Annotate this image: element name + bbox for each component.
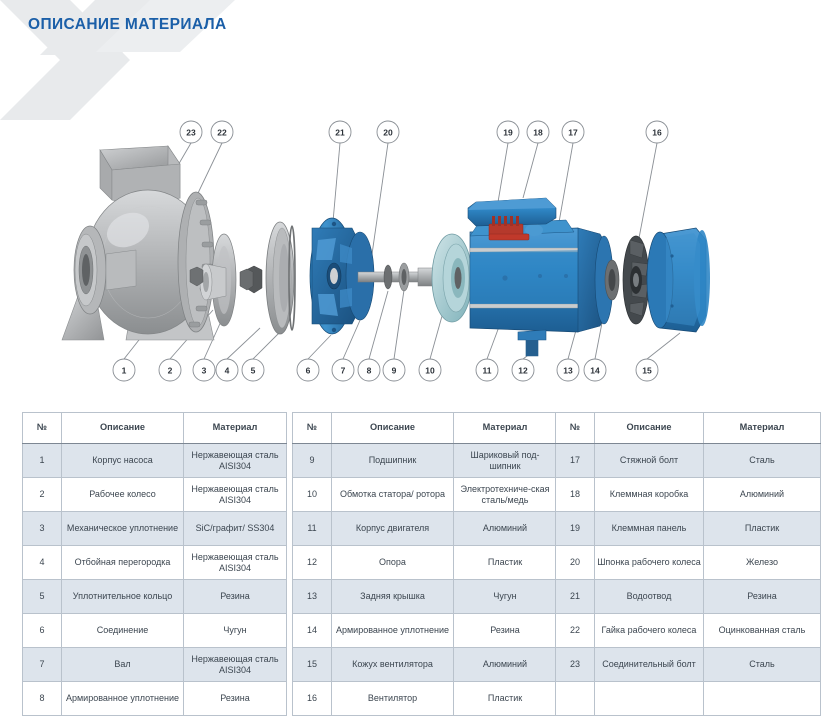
cell-number: 22 [556, 614, 595, 648]
cell-material: Оцинкованная сталь [704, 614, 821, 648]
table-row: 1Корпус насосаНержавеющая сталь AISI304 [23, 444, 287, 478]
callout-17: 17 [562, 121, 584, 143]
svg-text:11: 11 [483, 366, 492, 376]
part-pump-housing [62, 146, 214, 340]
table-row [556, 682, 821, 716]
cell-material: Электротехниче-ская сталь/медь [454, 478, 557, 512]
cell-description: Корпус двигателя [332, 512, 454, 546]
table-header-row: № Описание Материал [293, 413, 557, 444]
cell-number: 9 [293, 444, 332, 478]
cell-description [595, 682, 704, 716]
th-material: Материал [184, 413, 287, 444]
cell-number: 4 [23, 546, 62, 580]
svg-text:14: 14 [590, 366, 600, 376]
callout-23: 23 [180, 121, 202, 143]
part-mechanical-seal [240, 266, 262, 293]
cell-number: 3 [23, 512, 62, 546]
cell-material: Алюминий [704, 478, 821, 512]
part-motor-front-flange [432, 234, 472, 322]
cell-description: Подшипник [332, 444, 454, 478]
cell-description: Гайка рабочего колеса [595, 614, 704, 648]
callout-15: 15 [636, 359, 658, 381]
cell-material: Алюминий [454, 512, 557, 546]
cell-description: Стяжной болт [595, 444, 704, 478]
cell-number: 21 [556, 580, 595, 614]
table-row: 5Уплотнительное кольцоРезина [23, 580, 287, 614]
cell-number: 14 [293, 614, 332, 648]
cell-material: Резина [184, 682, 287, 716]
th-material: Материал [704, 413, 821, 444]
callout-3: 3 [193, 359, 215, 381]
callout-bubbles-top: 23 22 21 20 19 18 17 16 [180, 121, 668, 143]
cell-description: Вентилятор [332, 682, 454, 716]
table-row: 21ВодоотводРезина [556, 580, 821, 614]
cell-description: Корпус насоса [62, 444, 184, 478]
cell-material: Железо [704, 546, 821, 580]
cell-description: Опора [332, 546, 454, 580]
part-rear-cover [605, 260, 619, 300]
callout-14: 14 [584, 359, 606, 381]
cell-number: 10 [293, 478, 332, 512]
callout-4: 4 [216, 359, 238, 381]
callout-19: 19 [497, 121, 519, 143]
cell-number: 5 [23, 580, 62, 614]
cell-number: 1 [23, 444, 62, 478]
cell-material: Чугун [454, 580, 557, 614]
svg-text:19: 19 [503, 128, 513, 138]
svg-text:4: 4 [225, 366, 230, 376]
cell-material: Нержавеющая сталь AISI304 [184, 478, 287, 512]
svg-text:2: 2 [168, 366, 173, 376]
cell-number: 13 [293, 580, 332, 614]
cell-material: Сталь [704, 648, 821, 682]
th-material: Материал [454, 413, 557, 444]
cell-material: Алюминий [454, 648, 557, 682]
cell-description: Водоотвод [595, 580, 704, 614]
material-table-1: № Описание Материал 1Корпус насосаНержав… [22, 412, 287, 716]
callout-9: 9 [383, 359, 405, 381]
exploded-diagram: 23 22 21 20 19 18 17 16 1 2 3 4 5 6 7 8 … [0, 48, 825, 400]
table-row: 2Рабочее колесоНержавеющая сталь AISI304 [23, 478, 287, 512]
cell-description: Армированное уплотнение [332, 614, 454, 648]
cell-description: Соединительный болт [595, 648, 704, 682]
svg-text:20: 20 [383, 128, 393, 138]
cell-description: Рабочее колесо [62, 478, 184, 512]
cell-description: Вал [62, 648, 184, 682]
table-row: 16ВентиляторПластик [293, 682, 557, 716]
th-description: Описание [595, 413, 704, 444]
cell-number: 12 [293, 546, 332, 580]
page-title: ОПИСАНИЕ МАТЕРИАЛА [28, 16, 227, 34]
cell-number [556, 682, 595, 716]
table-row: 19Клеммная панельПластик [556, 512, 821, 546]
table-row: 6СоединениеЧугун [23, 614, 287, 648]
svg-text:6: 6 [306, 366, 311, 376]
page-header: ОПИСАНИЕ МАТЕРИАЛА [0, 0, 825, 48]
cell-material: Резина [184, 580, 287, 614]
table-header-row: № Описание Материал [23, 413, 287, 444]
cell-number: 23 [556, 648, 595, 682]
cell-material: Шариковый под-шипник [454, 444, 557, 478]
cell-material: Резина [704, 580, 821, 614]
table-row: 9ПодшипникШариковый под-шипник [293, 444, 557, 478]
svg-text:15: 15 [642, 366, 652, 376]
part-cooling-fan [623, 236, 649, 324]
svg-text:21: 21 [335, 128, 345, 138]
svg-text:23: 23 [186, 128, 196, 138]
cell-material: Пластик [704, 512, 821, 546]
cell-material: Нержавеющая сталь AISI304 [184, 648, 287, 682]
svg-text:18: 18 [533, 128, 543, 138]
th-description: Описание [62, 413, 184, 444]
cell-material: Чугун [184, 614, 287, 648]
table-body-2: 9ПодшипникШариковый под-шипник10Обмотка … [293, 444, 557, 716]
table-body-3: 17Стяжной болтСталь18Клеммная коробкаАлю… [556, 444, 821, 716]
part-impeller-nut [190, 267, 203, 286]
table-row: 7ВалНержавеющая сталь AISI304 [23, 648, 287, 682]
table-row: 13Задняя крышкаЧугун [293, 580, 557, 614]
cell-material: Сталь [704, 444, 821, 478]
table-row: 22Гайка рабочего колесаОцинкованная стал… [556, 614, 821, 648]
callout-7: 7 [332, 359, 354, 381]
callout-2: 2 [159, 359, 181, 381]
table-row: 3Механическое уплотнениеSiC/графит/ SS30… [23, 512, 287, 546]
callout-11: 11 [476, 359, 498, 381]
svg-text:5: 5 [251, 366, 256, 376]
cell-number: 2 [23, 478, 62, 512]
callout-8: 8 [358, 359, 380, 381]
material-tables: № Описание Материал 1Корпус насосаНержав… [0, 412, 825, 702]
callout-bubbles-bottom: 1 2 3 4 5 6 7 8 9 10 11 12 13 14 15 [113, 359, 658, 381]
table-row: 20Шпонка рабочего колесаЖелезо [556, 546, 821, 580]
svg-text:17: 17 [568, 128, 578, 138]
table-row: 14Армированное уплотнениеРезина [293, 614, 557, 648]
svg-text:16: 16 [652, 128, 662, 138]
cell-number: 18 [556, 478, 595, 512]
cell-number: 15 [293, 648, 332, 682]
cell-material: Пластик [454, 682, 557, 716]
part-fan-cover [647, 228, 710, 332]
cell-description: Клеммная коробка [595, 478, 704, 512]
part-baffle-plate [266, 222, 295, 334]
th-number: № [293, 413, 332, 444]
material-table-2: № Описание Материал 9ПодшипникШариковый … [292, 412, 557, 716]
callout-22: 22 [211, 121, 233, 143]
table-row: 10Обмотка статора/ ротораЭлектротехниче-… [293, 478, 557, 512]
svg-text:13: 13 [563, 366, 573, 376]
cell-number: 16 [293, 682, 332, 716]
svg-text:22: 22 [217, 128, 227, 138]
table-row: 4Отбойная перегородкаНержавеющая сталь A… [23, 546, 287, 580]
table-row: 15Кожух вентилятораАлюминий [293, 648, 557, 682]
cell-number: 6 [23, 614, 62, 648]
th-number: № [23, 413, 62, 444]
cell-material: Нержавеющая сталь AISI304 [184, 546, 287, 580]
callout-10: 10 [419, 359, 441, 381]
table-row: 11Корпус двигателяАлюминий [293, 512, 557, 546]
material-table-3: № Описание Материал 17Стяжной болтСталь1… [555, 412, 821, 716]
callout-1: 1 [113, 359, 135, 381]
cell-description: Армированное уплотнение [62, 682, 184, 716]
cell-number: 7 [23, 648, 62, 682]
svg-text:1: 1 [122, 366, 127, 376]
cell-number: 17 [556, 444, 595, 478]
cell-number: 11 [293, 512, 332, 546]
th-description: Описание [332, 413, 454, 444]
table-row: 8Армированное уплотнениеРезина [23, 682, 287, 716]
table-row: 12ОпораПластик [293, 546, 557, 580]
cell-description: Клеммная панель [595, 512, 704, 546]
callout-13: 13 [557, 359, 579, 381]
callout-5: 5 [242, 359, 264, 381]
svg-text:12: 12 [518, 366, 528, 376]
cell-description: Задняя крышка [332, 580, 454, 614]
part-support-foot [518, 330, 546, 356]
cell-description: Обмотка статора/ ротора [332, 478, 454, 512]
table-row: 17Стяжной болтСталь [556, 444, 821, 478]
callout-21: 21 [329, 121, 351, 143]
callout-16: 16 [646, 121, 668, 143]
callout-20: 20 [377, 121, 399, 143]
cell-description: Кожух вентилятора [332, 648, 454, 682]
svg-text:10: 10 [425, 366, 435, 376]
cell-material: SiC/графит/ SS304 [184, 512, 287, 546]
table-header-row: № Описание Материал [556, 413, 821, 444]
cell-description: Отбойная перегородка [62, 546, 184, 580]
table-row: 18Клеммная коробкаАлюминий [556, 478, 821, 512]
cell-description: Уплотнительное кольцо [62, 580, 184, 614]
svg-text:8: 8 [367, 366, 372, 376]
cell-description: Соединение [62, 614, 184, 648]
cell-number: 8 [23, 682, 62, 716]
callout-18: 18 [527, 121, 549, 143]
cell-material [704, 682, 821, 716]
th-number: № [556, 413, 595, 444]
cell-description: Механическое уплотнение [62, 512, 184, 546]
cell-material: Нержавеющая сталь AISI304 [184, 444, 287, 478]
callout-6: 6 [297, 359, 319, 381]
svg-text:7: 7 [341, 366, 346, 376]
cell-description: Шпонка рабочего колеса [595, 546, 704, 580]
cell-material: Пластик [454, 546, 557, 580]
cell-number: 20 [556, 546, 595, 580]
svg-text:9: 9 [392, 366, 397, 376]
cell-material: Резина [454, 614, 557, 648]
table-row: 23Соединительный болтСталь [556, 648, 821, 682]
svg-text:3: 3 [202, 366, 207, 376]
callout-12: 12 [512, 359, 534, 381]
table-body-1: 1Корпус насосаНержавеющая сталь AISI3042… [23, 444, 287, 716]
cell-number: 19 [556, 512, 595, 546]
